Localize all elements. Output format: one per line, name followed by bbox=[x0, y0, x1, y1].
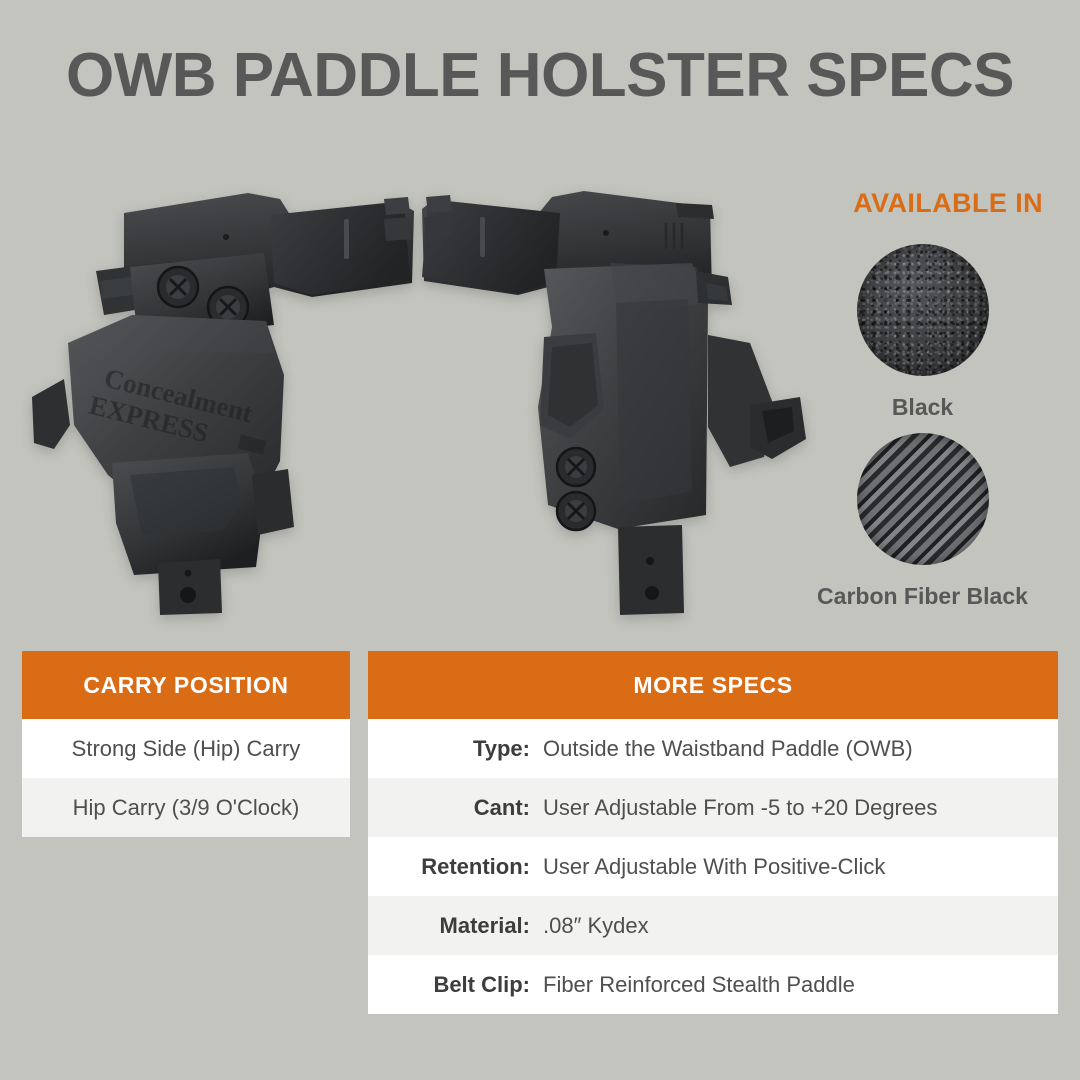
carry-position-value: Strong Side (Hip) Carry bbox=[22, 736, 350, 762]
table-row: Cant: User Adjustable From -5 to +20 Deg… bbox=[368, 778, 1058, 837]
color-option-black[interactable]: Black bbox=[780, 244, 1065, 421]
spec-key: Type: bbox=[368, 736, 543, 762]
swatch-label-carbon-fiber-black: Carbon Fiber Black bbox=[780, 583, 1065, 610]
holster-paddle-side-view: Concealment EXPRESS bbox=[12, 175, 422, 615]
product-image-area: Concealment EXPRESS bbox=[0, 175, 800, 635]
swatch-black-icon[interactable] bbox=[857, 244, 989, 376]
table-row: Retention: User Adjustable With Positive… bbox=[368, 837, 1058, 896]
page-title: OWB PADDLE HOLSTER SPECS bbox=[0, 44, 1080, 108]
more-specs-header: MORE SPECS bbox=[368, 651, 1058, 719]
spec-value: Outside the Waistband Paddle (OWB) bbox=[543, 736, 1058, 762]
holster-front-view bbox=[420, 175, 820, 615]
spec-key: Cant: bbox=[368, 795, 543, 821]
spec-value: .08″ Kydex bbox=[543, 913, 1058, 939]
swatch-carbon-fiber-icon[interactable] bbox=[857, 433, 989, 565]
carry-position-value: Hip Carry (3/9 O'Clock) bbox=[22, 795, 350, 821]
spec-key: Belt Clip: bbox=[368, 972, 543, 998]
spec-value: Fiber Reinforced Stealth Paddle bbox=[543, 972, 1058, 998]
spec-value: User Adjustable From -5 to +20 Degrees bbox=[543, 795, 1058, 821]
table-row: Belt Clip: Fiber Reinforced Stealth Padd… bbox=[368, 955, 1058, 1014]
table-row: Type: Outside the Waistband Paddle (OWB) bbox=[368, 719, 1058, 778]
available-in-heading: AVAILABLE IN bbox=[780, 188, 1065, 219]
spec-value: User Adjustable With Positive-Click bbox=[543, 854, 1058, 880]
table-row: Material: .08″ Kydex bbox=[368, 896, 1058, 955]
spec-key: Retention: bbox=[368, 854, 543, 880]
available-in-section: AVAILABLE IN Black Carbon Fiber Black bbox=[780, 188, 1065, 219]
spec-key: Material: bbox=[368, 913, 543, 939]
table-row: Strong Side (Hip) Carry bbox=[22, 719, 350, 778]
table-row: Hip Carry (3/9 O'Clock) bbox=[22, 778, 350, 837]
carry-position-header: CARRY POSITION bbox=[22, 651, 350, 719]
swatch-label-black: Black bbox=[780, 394, 1065, 421]
carry-position-table: CARRY POSITION Strong Side (Hip) Carry H… bbox=[22, 651, 350, 837]
more-specs-table: MORE SPECS Type: Outside the Waistband P… bbox=[368, 651, 1058, 1014]
color-option-carbon-fiber-black[interactable]: Carbon Fiber Black bbox=[780, 433, 1065, 610]
